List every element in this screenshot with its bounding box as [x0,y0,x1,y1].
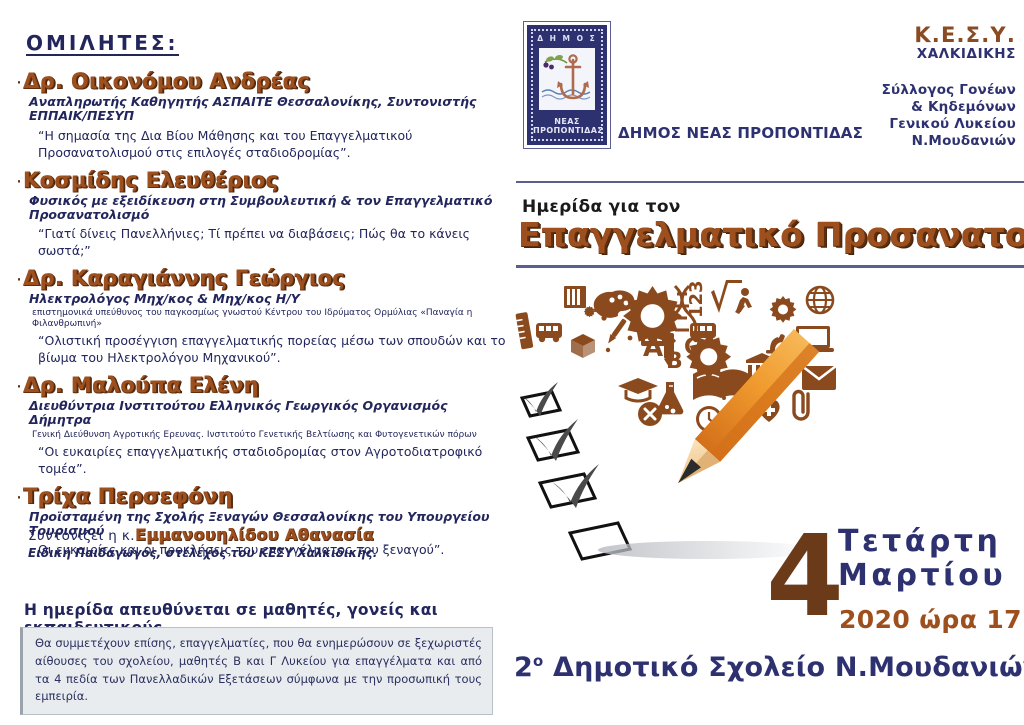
checkbox-list-icon [522,382,630,559]
note-box: Θα συμμετέχουν επίσης, επαγγελματίες, πο… [20,627,493,715]
venue-ordinal-suffix: ο [533,652,543,670]
speaker-name: Δρ. Οικονόμου Ανδρέας [23,70,310,92]
speaker-name-row: · Δρ. Οικονόμου Ανδρέας [16,70,508,93]
speakers-heading: ΟΜΙΛΗΤΕΣ: [26,33,179,56]
speaker-subrole: επιστημονικά υπεύθυνος του παγκοσμίως γν… [32,308,508,329]
crest-bottom-line2: ΠΡΟΠΟΝΤΙΔΑΣ [533,127,601,136]
title-rule-bottom [516,265,1024,268]
event-date-words: Τετάρτη Μαρτίου [838,527,1006,591]
speaker-name: Κοσμίδης Ελευθέριος [23,169,278,191]
coordinator-name-row: Συντονίζει η κ. Εμμανουηλίδου Αθανασία [28,527,377,544]
assoc-line-1: Σύλλογος Γονέων [882,82,1016,99]
speaker-role: Αναπληρωτής Καθηγητής ΑΣΠΑΙΤΕ Θεσσαλονίκ… [29,95,508,124]
kesy-block: Κ.Ε.Σ.Υ. ΧΑΛΚΙΔΙΚΗΣ [914,24,1016,61]
venue-ordinal-number: 2 [514,652,533,683]
bullet-icon: · [16,74,22,93]
speaker-name-row: · Κοσμίδης Ελευθέριος [16,169,508,192]
speakers-panel: ΟΜΙΛΗΤΕΣ: · Δρ. Οικονόμου Ανδρέας Αναπλη… [0,0,508,725]
speaker-role: Ηλεκτρολόγος Μηχ/κος & Μηχ/κος Η/Υ [29,292,508,306]
speaker-name-row: · Δρ. Καραγιάννης Γεώργιος [16,267,508,290]
bullet-icon: · [16,489,22,508]
speaker-name-row: · Δρ. Μαλούπα Ελένη [16,374,508,397]
svg-text:B: B [666,349,683,374]
venue-name: Δημοτικό Σχολείο Ν.Μουδανιών [543,652,1024,683]
speaker-quote: “Η σημασία της Δια Βίου Μάθησης και του … [38,128,508,162]
speaker-subrole: Γενική Διεύθυνση Αγροτικής Ερευνας. Ινστ… [32,430,508,440]
parents-association-block: Σύλλογος Γονέων & Κηδεμόνων Γενικού Λυκε… [882,82,1016,150]
anchor-olive-icon [539,48,601,110]
assoc-line-2: & Κηδεμόνων [882,99,1016,116]
assoc-line-3: Γενικού Λυκείου [882,116,1016,133]
coordinator-name: Εμμανουηλίδου Αθανασία [135,527,374,543]
crest-top-word: Δ Η Μ Ο Σ [533,34,601,43]
speaker-role: Διευθύντρια Ινστιτούτου Ελληνικός Γεωργι… [29,399,508,428]
speaker-list: · Δρ. Οικονόμου Ανδρέας Αναπληρωτής Καθη… [16,70,508,566]
event-month: Μαρτίου [838,561,1006,591]
event-date-number: 4 [766,521,844,633]
page-title: Επαγγελματικό Προσανατολισμό [518,218,1024,251]
speaker-role: Φυσικός με εξειδίκευση στη Συμβουλευτική… [29,194,508,223]
municipality-crest-icon: Δ Η Μ Ο Σ [524,22,610,148]
speaker-quote: “Γιατί δίνεις Πανελλήνιες; Τί πρέπει να … [38,226,508,260]
crest-bottom-words: ΝΕΑΣ ΠΡΟΠΟΝΤΙΔΑΣ [533,118,601,136]
kesy-title: Κ.Ε.Σ.Υ. [914,24,1016,46]
speaker-name: Δρ. Μαλούπα Ελένη [23,374,259,396]
title-kicker: Ημερίδα για τον [522,197,681,217]
speaker-quote: “Ολιστική προσέγγιση επαγγελματικής πορε… [38,333,508,367]
main-panel: Δ Η Μ Ο Σ [508,0,1024,725]
speaker-name: Δρ. Καραγιάννης Γεώργιος [23,267,345,289]
bullet-icon: · [16,271,22,290]
bullet-icon: · [16,378,22,397]
kesy-subtitle: ΧΑΛΚΙΔΙΚΗΣ [914,47,1016,61]
speaker-name-row: · Τρίχα Περσεφόνη [16,485,508,508]
speaker-quote: “Οι ευκαιρίες επαγγελματικής σταδιοδρομί… [38,444,508,478]
crest-inner-frame: Δ Η Μ Ο Σ [531,29,603,141]
title-rule-top [516,181,1024,183]
svg-text:123: 123 [686,280,707,318]
speaker-item: · Δρ. Καραγιάννης Γεώργιος Ηλεκτρολόγος … [16,267,508,367]
poster-root: ΟΜΙΛΗΤΕΣ: · Δρ. Οικονόμου Ανδρέας Αναπλη… [0,0,1024,725]
event-venue: 2ο Δημοτικό Σχολείο Ν.Μουδανιών [514,652,1024,683]
coordinator-role: Ειδική Παιδαγωγός, στέλεχος του ΚΕΣΥ Χαλ… [28,547,377,560]
speaker-item: · Δρ. Οικονόμου Ανδρέας Αναπληρωτής Καθη… [16,70,508,162]
coordinator-prefix: Συντονίζει η κ. [28,530,135,544]
speaker-name: Τρίχα Περσεφόνη [23,485,233,507]
bullet-icon: · [16,173,22,192]
event-year-time: 2020 ώρα 17:00 [839,605,1024,634]
header-band: Δ Η Μ Ο Σ [508,0,1024,168]
speaker-item: · Δρ. Μαλούπα Ελένη Διευθύντρια Ινστιτού… [16,374,508,478]
coordinator-block: Συντονίζει η κ. Εμμανουηλίδου Αθανασία Ε… [28,527,377,560]
assoc-line-4: Ν.Μουδανιών [882,133,1016,150]
speaker-item: · Κοσμίδης Ελευθέριος Φυσικός με εξειδίκ… [16,169,508,261]
municipality-name: ΔΗΜΟΣ ΝΕΑΣ ΠΡΟΠΟΝΤΙΔΑΣ [618,124,863,142]
event-weekday: Τετάρτη [838,527,1006,557]
